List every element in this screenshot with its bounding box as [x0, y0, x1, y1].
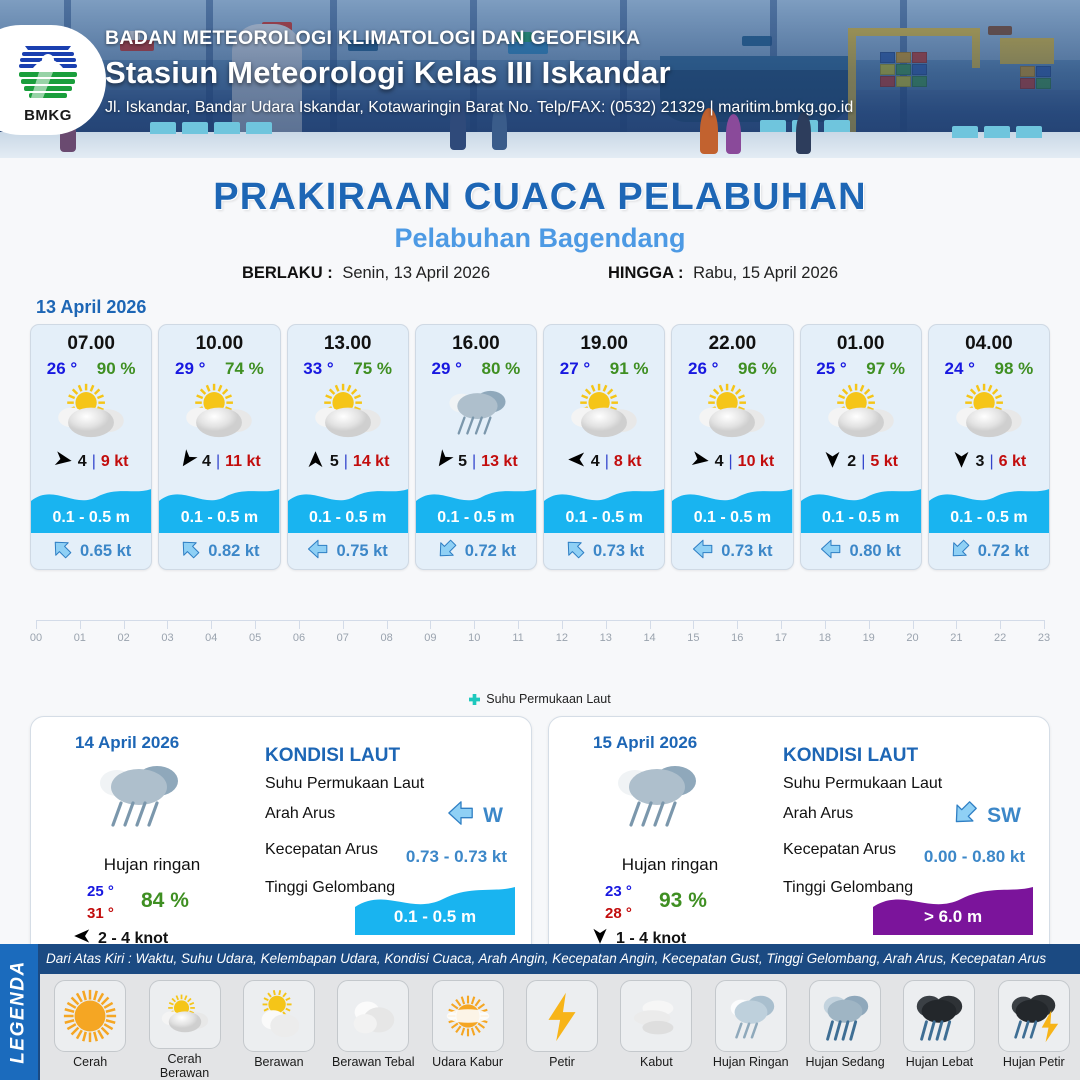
card-current-speed: 0.82 kt	[208, 542, 259, 561]
card-current-speed: 0.72 kt	[978, 542, 1029, 561]
chart-tick	[36, 620, 37, 629]
card-current-speed: 0.65 kt	[80, 542, 131, 561]
arrow-ene-icon	[691, 450, 710, 474]
rain-icon	[87, 755, 187, 840]
panel-temp-max: 28 °	[605, 903, 632, 925]
partly-cloudy-icon	[31, 379, 151, 445]
chart-tick	[781, 620, 782, 629]
card-gust: 6 kt	[999, 453, 1027, 471]
card-humidity: 74 %	[225, 359, 264, 379]
person-icon	[796, 112, 811, 154]
card-wind-row: 4 | 9 kt	[31, 445, 151, 479]
card-current-row: 0.65 kt	[31, 533, 151, 569]
card-humidity: 96 %	[738, 359, 777, 379]
card-temp-humidity-row: 26 ° 96 %	[672, 355, 792, 379]
clouds-icon	[337, 980, 409, 1052]
chart-tick-label: 01	[74, 632, 86, 644]
card-time: 16.00	[416, 325, 536, 355]
chart-tick	[124, 620, 125, 629]
card-wave-height: 0.1 - 0.5 m	[31, 509, 151, 527]
panel-current-speed-min: 0.00	[924, 847, 957, 866]
seat-icon	[1016, 126, 1042, 138]
seat-icon	[182, 122, 208, 134]
card-time: 04.00	[929, 325, 1049, 355]
card-wind-row: 4 | 11 kt	[159, 445, 279, 479]
legenda-items: Cerah Cerah Berawan Berawan Berawan Teba…	[40, 974, 1080, 1080]
legenda-item-label: Hujan Sedang	[805, 1055, 884, 1069]
seat-icon	[952, 126, 978, 138]
legenda-item-label: Udara Kabur	[432, 1055, 503, 1069]
card-temp-humidity-row: 29 ° 74 %	[159, 355, 279, 379]
arrow-w-icon	[692, 538, 714, 565]
arrow-nw-icon	[51, 538, 73, 565]
chart-tick-label: 18	[819, 632, 831, 644]
chart-legend: Suhu Permukaan Laut	[0, 692, 1080, 706]
card-wave: 0.1 - 0.5 m	[159, 479, 279, 533]
panel-current-speed-max: - 0.80 kt	[962, 847, 1025, 866]
chart-tick	[211, 620, 212, 629]
seat-icon	[214, 122, 240, 134]
legenda-tab-label: LEGENDA	[8, 960, 30, 1063]
card-temperature: 33 °	[303, 359, 333, 379]
wind-separator: |	[989, 453, 993, 471]
legenda-item: Hujan Lebat	[897, 980, 981, 1080]
card-temperature: 26 °	[47, 359, 77, 379]
chart-tick	[80, 620, 81, 629]
card-current-speed: 0.73 kt	[721, 542, 772, 561]
legenda-item-label: Berawan	[254, 1055, 303, 1069]
page-subtitle: Pelabuhan Bagendang	[0, 223, 1080, 254]
daily-panels: 14 April 2026 Hujan ringan 25 ° 31 ° 84 …	[0, 706, 1080, 962]
legenda-item: Udara Kabur	[425, 980, 509, 1080]
arrow-w-icon	[820, 538, 842, 565]
moderate-rain-icon	[809, 980, 881, 1052]
card-current-speed: 0.75 kt	[336, 542, 387, 561]
forecast-card[interactable]: 22.00 26 ° 96 % 4 | 10 kt 0.1 - 0.	[671, 324, 793, 570]
lightning-icon	[526, 980, 598, 1052]
arrow-w-icon	[567, 450, 586, 474]
berlaku-label: BERLAKU :	[242, 264, 333, 282]
arrow-ene-icon	[54, 450, 73, 474]
panel-date: 15 April 2026	[593, 733, 697, 753]
card-gust: 9 kt	[101, 453, 129, 471]
chart-tick-label: 21	[950, 632, 962, 644]
chart-tick-label: 19	[863, 632, 875, 644]
seat-icon	[246, 122, 272, 134]
wind-separator: |	[344, 453, 348, 471]
panel-wave: > 6.0 m	[873, 881, 1033, 935]
card-wind-row: 4 | 8 kt	[544, 445, 664, 479]
hingga-label: HINGGA :	[608, 264, 683, 282]
title-block: PRAKIRAAN CUACA PELABUHAN Pelabuhan Bage…	[0, 176, 1080, 283]
chart-tick-label: 07	[337, 632, 349, 644]
panel-current-direction: SW	[951, 799, 1021, 833]
wind-separator: |	[861, 453, 865, 471]
chart-tick-label: 06	[293, 632, 305, 644]
panel-temp-min: 23 °	[605, 881, 632, 903]
heavy-rain-icon	[903, 980, 975, 1052]
chart-tick	[255, 620, 256, 629]
legenda-item-label: Hujan Ringan	[713, 1055, 789, 1069]
wind-separator: |	[216, 453, 220, 471]
card-humidity: 75 %	[353, 359, 392, 379]
forecast-card[interactable]: 16.00 29 ° 80 % 5 | 13 kt 0.1 - 0.5 m	[415, 324, 537, 570]
card-humidity: 98 %	[994, 359, 1033, 379]
chart-tick-label: 04	[205, 632, 217, 644]
card-wind-scale: 3	[976, 453, 985, 471]
card-humidity: 90 %	[97, 359, 136, 379]
arrow-w-icon	[307, 538, 329, 565]
chart-tick-label: 14	[643, 632, 655, 644]
card-wind-row: 5 | 13 kt	[416, 445, 536, 479]
legenda-note: Dari Atas Kiri : Waktu, Suhu Udara, Kele…	[46, 951, 1046, 966]
panel-wave-height: 0.1 - 0.5 m	[355, 907, 515, 927]
card-wave: 0.1 - 0.5 m	[544, 479, 664, 533]
seat-icon	[150, 122, 176, 134]
card-wave: 0.1 - 0.5 m	[416, 479, 536, 533]
card-temp-humidity-row: 25 ° 97 %	[801, 355, 921, 379]
card-time: 01.00	[801, 325, 921, 355]
person-icon	[726, 114, 741, 154]
legenda-item: Cerah Berawan	[142, 980, 226, 1080]
forecast-card[interactable]: 04.00 24 ° 98 % 3 | 6 kt 0.1 - 0.5	[928, 324, 1050, 570]
card-gust: 13 kt	[481, 453, 517, 471]
chart-tick	[737, 620, 738, 629]
arrow-n-icon	[306, 450, 325, 474]
card-wind-scale: 5	[458, 453, 467, 471]
arrow-s-icon	[952, 450, 971, 474]
station-address: Jl. Iskandar, Bandar Udara Iskandar, Kot…	[105, 99, 1055, 117]
arrow-sw-icon	[436, 538, 458, 565]
panel-humidity: 84 %	[141, 889, 189, 913]
chart-tick	[869, 620, 870, 629]
card-wind-scale: 2	[847, 453, 856, 471]
card-temp-humidity-row: 33 ° 75 %	[288, 355, 408, 379]
card-temperature: 29 °	[432, 359, 462, 379]
card-wind-scale: 5	[330, 453, 339, 471]
daily-forecast-panel[interactable]: 15 April 2026 Hujan ringan 23 ° 28 ° 93 …	[548, 716, 1050, 962]
chart-tick-label: 16	[731, 632, 743, 644]
chart-tick	[606, 620, 607, 629]
card-wind-scale: 4	[78, 453, 87, 471]
arrow-nw-icon	[179, 538, 201, 565]
card-gust: 10 kt	[738, 453, 774, 471]
chart-tick-label: 15	[687, 632, 699, 644]
panel-wave-height: > 6.0 m	[873, 907, 1033, 927]
panel-label-current-speed: Kecepatan Arus	[783, 841, 896, 859]
sun-cloud-icon	[149, 980, 221, 1049]
card-current-speed: 0.73 kt	[593, 542, 644, 561]
validity-row: BERLAKU : Senin, 13 April 2026 HINGGA : …	[0, 264, 1080, 283]
legenda-tab: LEGENDA	[0, 944, 38, 1080]
panel-label-current-speed: Kecepatan Arus	[265, 841, 378, 859]
partly-cloudy-icon	[801, 379, 921, 445]
arrow-sw-icon	[951, 799, 979, 833]
wind-separator: |	[92, 453, 96, 471]
panel-date: 14 April 2026	[75, 733, 179, 753]
card-current-row: 0.75 kt	[288, 533, 408, 569]
arrow-ssw-icon	[178, 450, 197, 474]
partly-cloudy-icon	[288, 379, 408, 445]
chart-tick-label: 02	[118, 632, 130, 644]
chart-tick-label: 17	[775, 632, 787, 644]
panel-condition: Hujan ringan	[565, 855, 775, 875]
panel-wave: 0.1 - 0.5 m	[355, 881, 515, 935]
legenda-item: Petir	[520, 980, 604, 1080]
chart-tick-label: 12	[556, 632, 568, 644]
card-wave: 0.1 - 0.5 m	[929, 479, 1049, 533]
chart-tick	[518, 620, 519, 629]
chart-legend-label: Suhu Permukaan Laut	[486, 692, 610, 706]
card-temp-humidity-row: 29 ° 80 %	[416, 355, 536, 379]
sst-legend-marker-icon	[469, 694, 480, 705]
legenda-item: Hujan Petir	[992, 980, 1076, 1080]
card-temp-humidity-row: 27 ° 91 %	[544, 355, 664, 379]
chart-tick-label: 05	[249, 632, 261, 644]
card-temperature: 25 °	[816, 359, 846, 379]
card-current-row: 0.82 kt	[159, 533, 279, 569]
forecast-card[interactable]: 19.00 27 ° 91 % 4 | 8 kt 0.1 - 0.5	[543, 324, 665, 570]
card-wave-height: 0.1 - 0.5 m	[416, 509, 536, 527]
chart-tick-label: 09	[424, 632, 436, 644]
panel-label-current-dir: Arah Arus	[783, 805, 853, 823]
card-wave: 0.1 - 0.5 m	[672, 479, 792, 533]
arrow-nw-icon	[564, 538, 586, 565]
chart-tick-label: 22	[994, 632, 1006, 644]
panel-current-speed-max: - 0.73 kt	[444, 847, 507, 866]
chart-tick-label: 00	[30, 632, 42, 644]
forecast-card[interactable]: 10.00 29 ° 74 % 4 | 11 kt 0.1 - 0.	[158, 324, 280, 570]
wind-separator: |	[729, 453, 733, 471]
legenda-item-label: Petir	[549, 1055, 575, 1069]
berlaku-value: Senin, 13 April 2026	[342, 264, 490, 282]
chart-x-ticks: 0001020304050607080910111213141516171819…	[36, 620, 1044, 650]
legenda-item: Berawan	[237, 980, 321, 1080]
chart-tick-label: 08	[380, 632, 392, 644]
chart-tick	[562, 620, 563, 629]
card-wave-height: 0.1 - 0.5 m	[672, 509, 792, 527]
rain-icon	[416, 379, 536, 445]
legenda-item-label: Berawan Tebal	[332, 1055, 414, 1069]
station-name: Stasiun Meteorologi Kelas III Iskandar	[105, 55, 1055, 91]
bmkg-emblem-icon	[9, 36, 87, 110]
card-current-row: 0.73 kt	[544, 533, 664, 569]
sun-cloud-small-icon	[243, 980, 315, 1052]
arrow-s-icon	[823, 450, 842, 474]
card-wave: 0.1 - 0.5 m	[31, 479, 151, 533]
card-current-row: 0.72 kt	[929, 533, 1049, 569]
chart-tick	[167, 620, 168, 629]
partly-cloudy-icon	[159, 379, 279, 445]
legenda-item-label: Hujan Lebat	[906, 1055, 973, 1069]
thunderstorm-icon	[998, 980, 1070, 1052]
chart-tick-label: 13	[600, 632, 612, 644]
chart-tick	[1044, 620, 1045, 629]
chart-tick	[387, 620, 388, 629]
light-rain-icon	[715, 980, 787, 1052]
card-time: 19.00	[544, 325, 664, 355]
haze-icon	[432, 980, 504, 1052]
legenda-item: Berawan Tebal	[331, 980, 415, 1080]
bmkg-logo-text: BMKG	[9, 107, 87, 124]
arrow-w-icon	[447, 799, 475, 833]
hingga-value: Rabu, 15 April 2026	[693, 264, 838, 282]
panel-label-sst: Suhu Permukaan Laut	[783, 775, 942, 793]
forecast-card[interactable]: 07.00 26 ° 90 % 4 | 9 kt 0.1 - 0.5	[30, 324, 152, 570]
card-temperature: 27 °	[560, 359, 590, 379]
card-wave: 0.1 - 0.5 m	[801, 479, 921, 533]
forecast-day-label: 13 April 2026	[36, 297, 1080, 318]
chart-tick-label: 20	[906, 632, 918, 644]
card-wind-row: 2 | 5 kt	[801, 445, 921, 479]
card-time: 22.00	[672, 325, 792, 355]
card-temperature: 29 °	[175, 359, 205, 379]
chart-tick-label: 03	[161, 632, 173, 644]
card-wave: 0.1 - 0.5 m	[288, 479, 408, 533]
card-wind-row: 3 | 6 kt	[929, 445, 1049, 479]
agency-name: BADAN METEOROLOGI KLIMATOLOGI DAN GEOFIS…	[105, 27, 1055, 50]
legenda-item: Hujan Ringan	[709, 980, 793, 1080]
card-time: 07.00	[31, 325, 151, 355]
chart-tick	[956, 620, 957, 629]
seat-icon	[824, 120, 850, 132]
card-wave-height: 0.1 - 0.5 m	[929, 509, 1049, 527]
legenda-item-label: Kabut	[640, 1055, 673, 1069]
card-wave-height: 0.1 - 0.5 m	[288, 509, 408, 527]
chart-tick	[474, 620, 475, 629]
chart-tick	[913, 620, 914, 629]
card-current-row: 0.80 kt	[801, 533, 921, 569]
chart-tick	[650, 620, 651, 629]
forecast-card[interactable]: 13.00 33 ° 75 % 5 | 14 kt 0.1 - 0.	[287, 324, 409, 570]
card-humidity: 97 %	[866, 359, 905, 379]
legenda-item: Kabut	[614, 980, 698, 1080]
chart-tick	[1000, 620, 1001, 629]
card-wind-scale: 4	[715, 453, 724, 471]
card-wave-height: 0.1 - 0.5 m	[801, 509, 921, 527]
fog-icon	[620, 980, 692, 1052]
card-wind-row: 4 | 10 kt	[672, 445, 792, 479]
chart-tick	[430, 620, 431, 629]
card-temperature: 26 °	[688, 359, 718, 379]
partly-cloudy-icon	[929, 379, 1049, 445]
card-wave-height: 0.1 - 0.5 m	[544, 509, 664, 527]
legenda-item: Hujan Sedang	[803, 980, 887, 1080]
legenda-item-label: Hujan Petir	[1003, 1055, 1065, 1069]
panel-sea-title: KONDISI LAUT	[265, 745, 400, 767]
panel-current-speed: 0.73 - 0.73 kt	[406, 847, 507, 867]
arrow-sw-icon	[949, 538, 971, 565]
card-gust: 5 kt	[870, 453, 898, 471]
chart-tick	[693, 620, 694, 629]
panel-label-current-dir: Arah Arus	[265, 805, 335, 823]
card-gust: 14 kt	[353, 453, 389, 471]
legenda-bar: LEGENDA Dari Atas Kiri : Waktu, Suhu Uda…	[0, 944, 1080, 1080]
chart-tick	[343, 620, 344, 629]
chart-tick	[299, 620, 300, 629]
hingga-group: HINGGA : Rabu, 15 April 2026	[608, 264, 838, 283]
chart-tick-label: 11	[512, 632, 523, 644]
rain-icon	[605, 755, 705, 840]
panel-current-speed-min: 0.73	[406, 847, 439, 866]
partly-cloudy-icon	[672, 379, 792, 445]
chart-tick	[825, 620, 826, 629]
forecast-card[interactable]: 01.00 25 ° 97 % 2 | 5 kt 0.1 - 0.5	[800, 324, 922, 570]
card-gust: 11 kt	[225, 453, 261, 471]
card-wind-scale: 4	[591, 453, 600, 471]
wind-separator: |	[472, 453, 476, 471]
seat-icon	[984, 126, 1010, 138]
card-current-row: 0.73 kt	[672, 533, 792, 569]
panel-current-dir-label: W	[483, 804, 503, 828]
card-temp-humidity-row: 26 ° 90 %	[31, 355, 151, 379]
legenda-item-label: Cerah	[73, 1055, 107, 1069]
header-text-block: BADAN METEOROLOGI KLIMATOLOGI DAN GEOFIS…	[105, 27, 1055, 117]
berlaku-group: BERLAKU : Senin, 13 April 2026	[242, 264, 490, 283]
panel-humidity: 93 %	[659, 889, 707, 913]
panel-current-direction: W	[447, 799, 503, 833]
card-temp-humidity-row: 24 ° 98 %	[929, 355, 1049, 379]
panel-temp-max: 31 °	[87, 903, 114, 925]
legenda-item-label: Cerah Berawan	[142, 1052, 226, 1080]
card-time: 13.00	[288, 325, 408, 355]
card-wind-row: 5 | 14 kt	[288, 445, 408, 479]
card-temperature: 24 °	[945, 359, 975, 379]
panel-label-sst: Suhu Permukaan Laut	[265, 775, 424, 793]
card-time: 10.00	[159, 325, 279, 355]
chart-tick-label: 23	[1038, 632, 1050, 644]
bmkg-logo: BMKG	[0, 25, 106, 135]
panel-current-speed: 0.00 - 0.80 kt	[924, 847, 1025, 867]
legenda-item: Cerah	[48, 980, 132, 1080]
panel-temps: 25 ° 31 °	[87, 881, 114, 925]
seat-icon	[760, 120, 786, 132]
bmkg-logo-mark: BMKG	[9, 36, 87, 124]
terminal-floor	[0, 132, 1080, 158]
panel-temps: 23 ° 28 °	[605, 881, 632, 925]
sst-chart: 0001020304050607080910111213141516171819…	[28, 606, 1052, 664]
wind-separator: |	[605, 453, 609, 471]
chart-tick-label: 10	[468, 632, 480, 644]
card-wind-scale: 4	[202, 453, 211, 471]
card-gust: 8 kt	[614, 453, 642, 471]
partly-cloudy-icon	[544, 379, 664, 445]
page-title: PRAKIRAAN CUACA PELABUHAN	[0, 176, 1080, 219]
panel-condition: Hujan ringan	[47, 855, 257, 875]
daily-forecast-panel[interactable]: 14 April 2026 Hujan ringan 25 ° 31 ° 84 …	[30, 716, 532, 962]
card-wave-height: 0.1 - 0.5 m	[159, 509, 279, 527]
card-current-speed: 0.80 kt	[849, 542, 900, 561]
panel-current-dir-label: SW	[987, 804, 1021, 828]
panel-temp-min: 25 °	[87, 881, 114, 903]
card-humidity: 91 %	[610, 359, 649, 379]
card-current-speed: 0.72 kt	[465, 542, 516, 561]
arrow-ssw-icon	[434, 450, 453, 474]
sun-icon	[54, 980, 126, 1052]
card-current-row: 0.72 kt	[416, 533, 536, 569]
forecast-card-row: 07.00 26 ° 90 % 4 | 9 kt 0.1 - 0.5	[0, 324, 1080, 570]
panel-sea-title: KONDISI LAUT	[783, 745, 918, 767]
page-header: BMKG BADAN METEOROLOGI KLIMATOLOGI DAN G…	[0, 0, 1080, 158]
card-humidity: 80 %	[481, 359, 520, 379]
